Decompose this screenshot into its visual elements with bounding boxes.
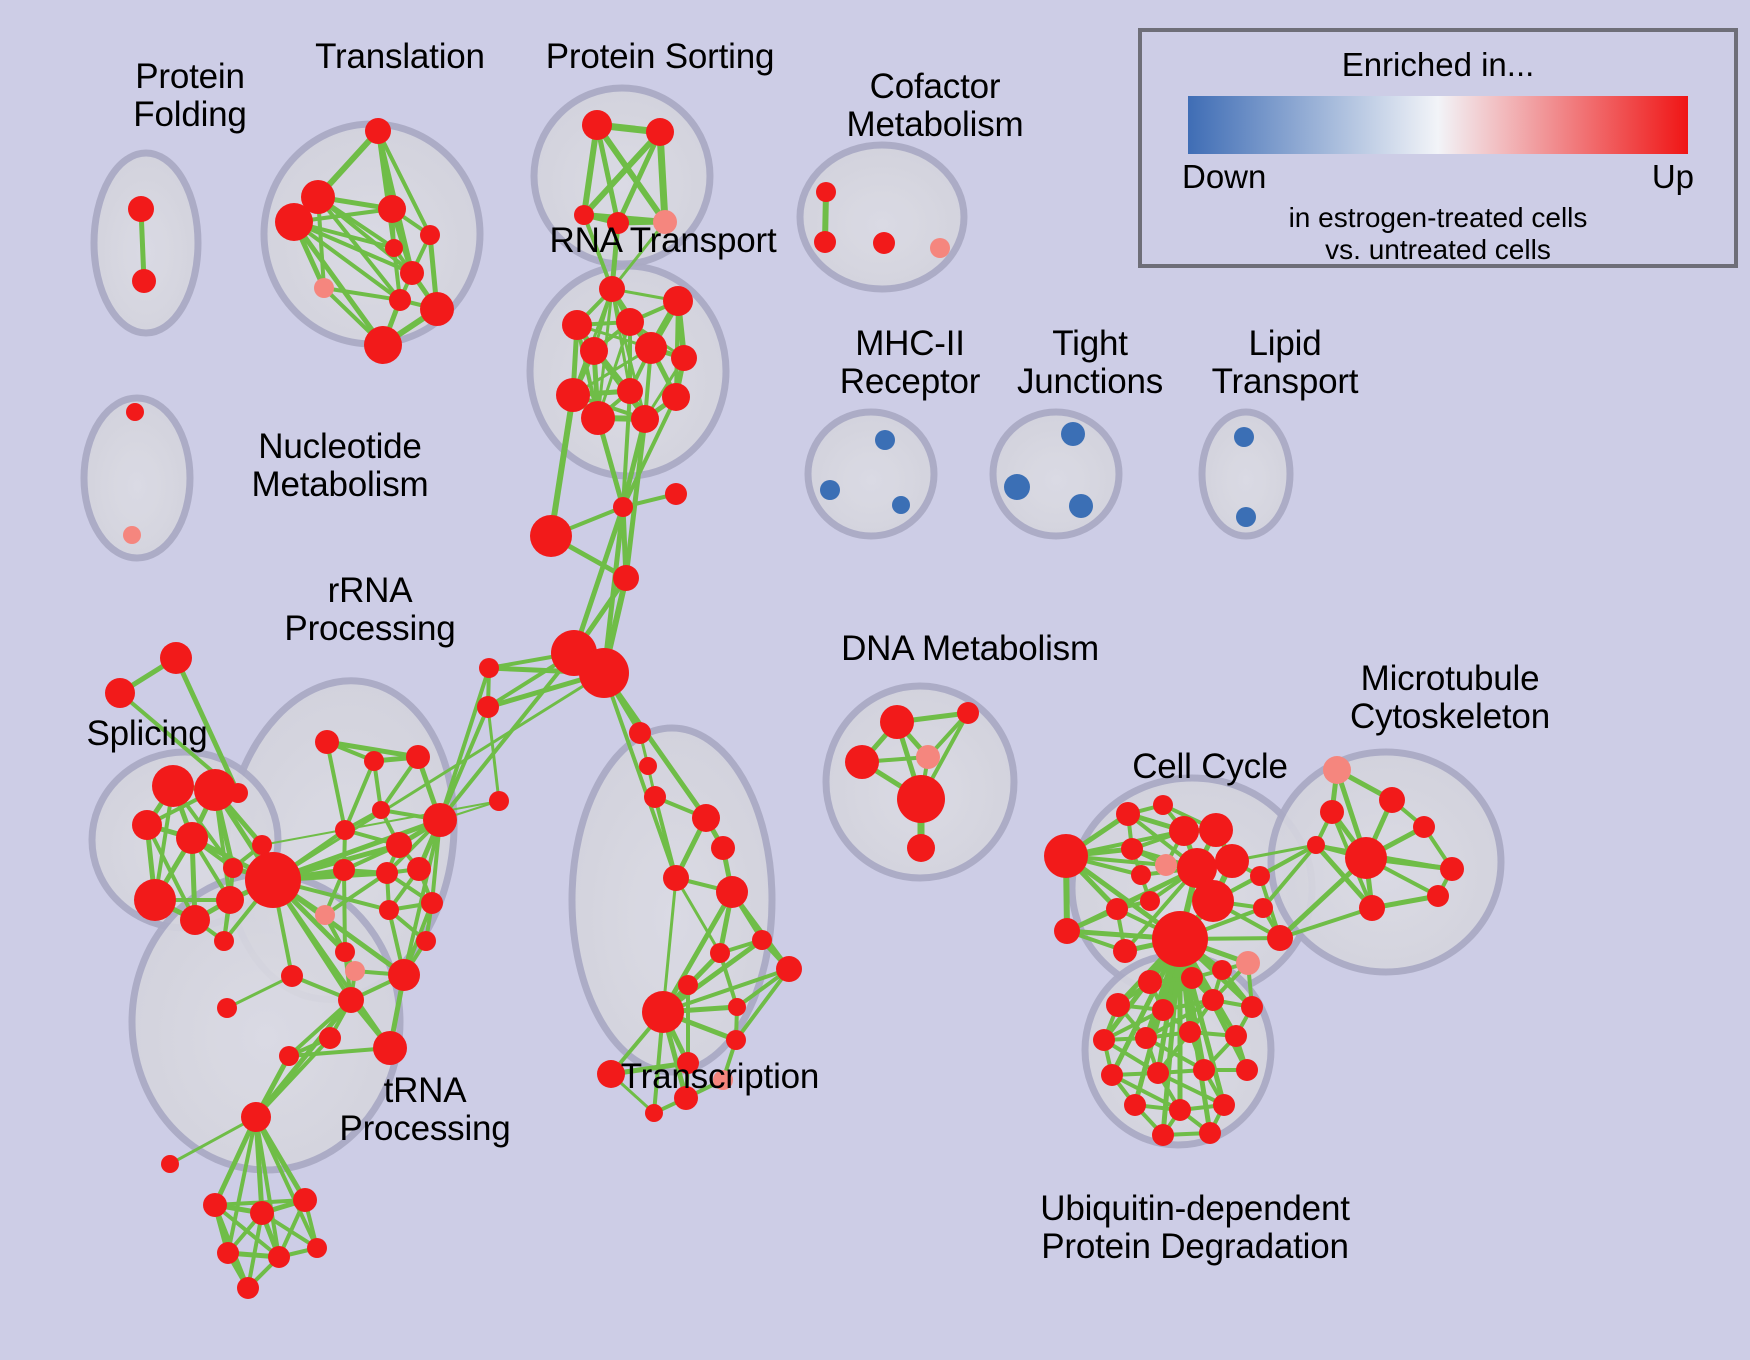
network-node[interactable] — [128, 196, 154, 222]
network-node[interactable] — [364, 326, 402, 364]
network-node[interactable] — [1131, 865, 1151, 885]
network-node[interactable] — [1124, 1094, 1146, 1116]
legend-box: Enriched in... Down Up in estrogen-treat… — [1138, 28, 1738, 268]
network-node[interactable] — [1044, 834, 1088, 878]
network-node[interactable] — [1061, 422, 1085, 446]
network-node[interactable] — [1440, 857, 1464, 881]
network-node[interactable] — [1320, 800, 1344, 824]
network-node[interactable] — [1215, 844, 1249, 878]
network-node[interactable] — [400, 261, 424, 285]
network-node[interactable] — [1054, 918, 1080, 944]
network-node[interactable] — [1225, 1025, 1247, 1047]
cluster-label-rrna-processing: rRNA Processing — [240, 572, 500, 648]
network-node[interactable] — [1199, 813, 1233, 847]
network-node[interactable] — [293, 1188, 317, 1212]
network-node[interactable] — [1135, 1027, 1157, 1049]
cluster-label-protein-sorting: Protein Sorting — [490, 38, 830, 76]
network-node[interactable] — [214, 931, 234, 951]
network-node[interactable] — [617, 378, 643, 404]
network-node[interactable] — [1307, 836, 1325, 854]
cluster-label-cell-cycle: Cell Cycle — [1090, 748, 1330, 786]
network-node[interactable] — [315, 905, 335, 925]
network-node[interactable] — [752, 930, 772, 950]
network-node[interactable] — [180, 905, 210, 935]
network-node[interactable] — [897, 775, 945, 823]
network-node[interactable] — [582, 110, 612, 140]
network-node[interactable] — [1147, 1062, 1169, 1084]
network-node[interactable] — [420, 292, 454, 326]
network-node[interactable] — [216, 886, 244, 914]
network-node[interactable] — [1069, 494, 1093, 518]
network-node[interactable] — [315, 730, 339, 754]
network-node[interactable] — [530, 515, 572, 557]
network-node[interactable] — [275, 203, 313, 241]
network-node[interactable] — [579, 648, 629, 698]
network-node[interactable] — [378, 195, 406, 223]
network-node[interactable] — [1267, 925, 1293, 951]
network-node[interactable] — [892, 496, 910, 514]
network-node[interactable] — [423, 803, 457, 837]
network-node[interactable] — [406, 745, 430, 769]
network-node[interactable] — [126, 403, 144, 421]
network-node[interactable] — [820, 480, 840, 500]
cluster-hull-tight-junctions — [993, 412, 1119, 536]
network-node[interactable] — [711, 836, 735, 860]
network-node[interactable] — [489, 791, 509, 811]
network-node[interactable] — [335, 942, 355, 962]
network-node[interactable] — [726, 1030, 746, 1050]
network-node[interactable] — [416, 931, 436, 951]
network-node[interactable] — [407, 857, 431, 881]
network-node[interactable] — [613, 565, 639, 591]
network-node[interactable] — [176, 822, 208, 854]
network-node[interactable] — [1093, 1029, 1115, 1051]
network-node[interactable] — [1155, 854, 1177, 876]
network-node[interactable] — [644, 786, 666, 808]
network-node[interactable] — [916, 745, 940, 769]
network-node[interactable] — [388, 959, 420, 991]
cluster-hull-mhc-ii-receptor — [808, 412, 934, 536]
network-node[interactable] — [716, 876, 748, 908]
cluster-label-cofactor-metabolism: Cofactor Metabolism — [790, 68, 1080, 144]
network-node[interactable] — [875, 430, 895, 450]
network-node[interactable] — [134, 879, 176, 921]
network-node[interactable] — [728, 998, 746, 1016]
network-node[interactable] — [420, 225, 440, 245]
network-node[interactable] — [1138, 970, 1162, 994]
network-node[interactable] — [1106, 898, 1128, 920]
network-node[interactable] — [580, 337, 608, 365]
network-node[interactable] — [629, 722, 651, 744]
network-node[interactable] — [1101, 1064, 1123, 1086]
network-node[interactable] — [319, 1027, 341, 1049]
network-node[interactable] — [237, 1277, 259, 1299]
network-node[interactable] — [776, 956, 802, 982]
legend-down-label: Down — [1182, 158, 1266, 196]
network-node[interactable] — [1152, 1124, 1174, 1146]
legend-up-label: Up — [1652, 158, 1694, 196]
cluster-label-trna-processing: tRNA Processing — [300, 1072, 550, 1148]
network-node[interactable] — [1113, 939, 1137, 963]
network-node[interactable] — [631, 405, 659, 433]
network-node[interactable] — [635, 332, 667, 364]
network-node[interactable] — [223, 858, 243, 878]
network-node[interactable] — [281, 965, 303, 987]
network-node[interactable] — [335, 820, 355, 840]
network-node[interactable] — [845, 745, 879, 779]
network-node[interactable] — [671, 345, 697, 371]
network-node[interactable] — [338, 987, 364, 1013]
cluster-label-microtubule-cytoskeleton: Microtubule Cytoskeleton — [1300, 660, 1600, 736]
network-node[interactable] — [1427, 885, 1449, 907]
network-node[interactable] — [217, 998, 237, 1018]
network-node[interactable] — [123, 526, 141, 544]
network-node[interactable] — [1140, 891, 1160, 911]
network-node[interactable] — [307, 1238, 327, 1258]
network-node[interactable] — [373, 1031, 407, 1065]
network-node[interactable] — [421, 892, 443, 914]
network-node[interactable] — [613, 497, 633, 517]
network-node[interactable] — [880, 705, 914, 739]
network-node[interactable] — [1169, 816, 1199, 846]
edge — [440, 653, 574, 820]
network-node[interactable] — [389, 289, 411, 311]
network-node[interactable] — [1193, 1059, 1215, 1081]
network-node[interactable] — [161, 1155, 179, 1173]
edge — [344, 870, 345, 952]
cluster-hull-protein-folding — [94, 153, 198, 333]
edge — [440, 668, 489, 820]
network-node[interactable] — [203, 1193, 227, 1217]
network-node[interactable] — [1192, 880, 1234, 922]
network-node[interactable] — [385, 239, 403, 257]
network-node[interactable] — [816, 182, 836, 202]
network-node[interactable] — [662, 383, 690, 411]
network-node[interactable] — [930, 238, 950, 258]
network-node[interactable] — [1213, 1094, 1235, 1116]
network-node[interactable] — [663, 865, 689, 891]
network-node[interactable] — [907, 834, 935, 862]
network-node[interactable] — [477, 696, 499, 718]
network-node[interactable] — [1236, 951, 1260, 975]
network-node[interactable] — [616, 308, 644, 336]
network-node[interactable] — [599, 276, 625, 302]
network-node[interactable] — [1345, 837, 1387, 879]
network-node[interactable] — [250, 1201, 274, 1225]
cluster-label-lipid-transport: Lipid Transport — [1170, 325, 1400, 401]
network-node[interactable] — [1234, 427, 1254, 447]
cluster-label-transcription: Transcription — [570, 1058, 870, 1096]
network-node[interactable] — [1121, 838, 1143, 860]
network-node[interactable] — [1004, 474, 1030, 500]
network-node[interactable] — [1199, 1122, 1221, 1144]
network-node[interactable] — [873, 232, 895, 254]
network-node[interactable] — [1106, 993, 1130, 1017]
figure-canvas: Protein FoldingTranslationProtein Sortin… — [0, 0, 1750, 1360]
network-node[interactable] — [1236, 507, 1256, 527]
network-node[interactable] — [160, 642, 192, 674]
network-node[interactable] — [1413, 816, 1435, 838]
network-node[interactable] — [581, 401, 615, 435]
network-node[interactable] — [1179, 1021, 1201, 1043]
network-node[interactable] — [646, 118, 674, 146]
network-node[interactable] — [1212, 960, 1232, 980]
network-node[interactable] — [1379, 787, 1405, 813]
network-node[interactable] — [678, 975, 698, 995]
network-node[interactable] — [556, 378, 590, 412]
network-node[interactable] — [241, 1102, 271, 1132]
legend-title: Enriched in... — [1142, 46, 1734, 84]
network-node[interactable] — [1152, 911, 1208, 967]
network-node[interactable] — [692, 804, 720, 832]
network-node[interactable] — [365, 118, 391, 144]
cluster-label-ubiquitin-protein-degradation: Ubiquitin-dependent Protein Degradation — [985, 1190, 1405, 1266]
legend-color-bar — [1188, 96, 1688, 154]
cluster-label-splicing: Splicing — [52, 715, 242, 753]
network-node[interactable] — [1236, 1059, 1258, 1081]
network-node[interactable] — [1241, 996, 1263, 1018]
network-node[interactable] — [645, 1104, 663, 1122]
network-node[interactable] — [279, 1046, 299, 1066]
network-node[interactable] — [132, 810, 162, 840]
network-node[interactable] — [957, 702, 979, 724]
network-node[interactable] — [132, 269, 156, 293]
legend-caption: in estrogen-treated cells vs. untreated … — [1142, 202, 1734, 267]
network-node[interactable] — [1152, 999, 1174, 1021]
network-node[interactable] — [152, 765, 194, 807]
network-node[interactable] — [194, 769, 236, 811]
network-node[interactable] — [345, 961, 365, 981]
cluster-label-nucleotide-metabolism: Nucleotide Metabolism — [190, 428, 490, 504]
network-node[interactable] — [333, 859, 355, 881]
network-node[interactable] — [376, 862, 398, 884]
network-node[interactable] — [364, 751, 384, 771]
network-node[interactable] — [268, 1246, 290, 1268]
network-node[interactable] — [710, 943, 730, 963]
network-node[interactable] — [217, 1242, 239, 1264]
network-node[interactable] — [1359, 895, 1385, 921]
cluster-label-rna-transport: RNA Transport — [498, 222, 828, 260]
network-node[interactable] — [245, 852, 301, 908]
network-node[interactable] — [663, 286, 693, 316]
network-node[interactable] — [1116, 802, 1140, 826]
network-node[interactable] — [562, 310, 592, 340]
network-node[interactable] — [665, 483, 687, 505]
network-node[interactable] — [314, 278, 334, 298]
network-node[interactable] — [1250, 866, 1270, 886]
network-node[interactable] — [479, 658, 499, 678]
network-node[interactable] — [1202, 989, 1224, 1011]
cluster-label-dna-metabolism: DNA Metabolism — [805, 630, 1135, 668]
network-node[interactable] — [252, 835, 272, 855]
network-node[interactable] — [379, 900, 399, 920]
network-node[interactable] — [1153, 795, 1173, 815]
network-node[interactable] — [105, 678, 135, 708]
network-node[interactable] — [386, 832, 412, 858]
network-node[interactable] — [639, 757, 657, 775]
network-node[interactable] — [642, 991, 684, 1033]
network-node[interactable] — [1169, 1099, 1191, 1121]
network-node[interactable] — [1253, 898, 1273, 918]
network-node[interactable] — [372, 801, 390, 819]
network-node[interactable] — [1181, 967, 1203, 989]
